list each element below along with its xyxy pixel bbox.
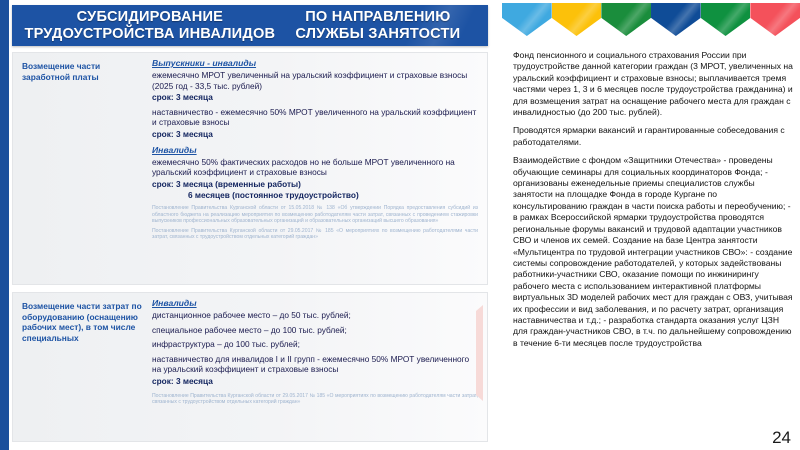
row-content-equipment: Инвалиды дистанционное рабочее место – д… [152,298,478,409]
left-edge-accent-band [0,0,9,450]
chevron-decoration-strip [502,3,800,36]
paragraph-remote-workplace: дистанционное рабочее место – до 50 тыс.… [152,310,478,321]
title-line-2: ПО НАПРАВЛЕНИЮ СЛУЖБЫ ЗАНЯТОСТИ [278,9,478,43]
left-panel: СУБСИДИРОВАНИЕ ТРУДОУСТРОЙСТВА ИНВАЛИДОВ… [0,0,502,450]
row-label-equipment: Возмещение части затрат по оборудованию … [22,301,146,343]
pink-accent-stripe [476,305,483,401]
right-paragraph-job-fairs: Проводятся ярмарки вакансий и гарантиров… [513,125,793,148]
subheading-disabled-equipment: Инвалиды [152,298,478,309]
legal-note-185-b: Постановление Правительства Курганской о… [152,393,478,406]
slide-title-banner: СУБСИДИРОВАНИЕ ТРУДОУСТРОЙСТВА ИНВАЛИДОВ… [12,5,488,46]
chevron-2-yellow [552,3,602,36]
paragraph-disabled-monthly: ежемесячно 50% фактических расходов но н… [152,157,478,178]
paragraph-graduates-term: срок: 3 месяца [152,92,478,103]
chevron-3-green [601,3,651,36]
chevron-4-blue-dark [651,3,701,36]
paragraph-graduates-monthly: ежемесячно МРОТ увеличенный на уральский… [152,70,478,91]
chevron-1-blue-light [502,3,552,36]
chevron-6-red [750,3,800,36]
subheading-disabled: Инвалиды [152,145,478,156]
content-row-equipment: Возмещение части затрат по оборудованию … [12,292,488,442]
paragraph-infrastructure: инфраструктура – до 100 тыс. рублей; [152,339,478,350]
legal-note-138: Постановление Правительства Курганской о… [152,205,478,225]
page-title: СУБСИДИРОВАНИЕ ТРУДОУСТРОЙСТВА ИНВАЛИДОВ… [12,5,488,46]
paragraph-special-workplace: специальное рабочее место – до 100 тыс. … [152,325,478,336]
paragraph-mentorship-term: срок: 3 месяца [152,129,478,140]
subheading-graduates: Выпускники - инвалиды [152,58,478,69]
chevron-5-green [701,3,751,36]
title-line-1: СУБСИДИРОВАНИЕ ТРУДОУСТРОЙСТВА ИНВАЛИДОВ [22,9,278,43]
row-label-salary: Возмещение части заработной платы [22,61,142,82]
right-panel: Фонд пенсионного и социального страхован… [502,0,800,450]
paragraph-mentorship-groups: наставничество для инвалидов I и II груп… [152,354,478,375]
paragraph-equipment-term: срок: 3 месяца [152,376,478,387]
content-row-salary: Возмещение части заработной платы Выпуск… [12,52,488,285]
paragraph-disabled-term-perm: 6 месяцев (постоянное трудоустройство) [152,190,478,201]
paragraph-disabled-term-temp: срок: 3 месяца (временные работы) [152,179,478,190]
page-number: 24 [772,429,791,447]
slide-canvas: СУБСИДИРОВАНИЕ ТРУДОУСТРОЙСТВА ИНВАЛИДОВ… [0,0,800,450]
row-content-salary: Выпускники - инвалиды ежемесячно МРОТ ув… [152,58,478,244]
right-paragraph-defenders-fund: Взаимодействие с фондом «Защитники Отече… [513,155,793,349]
legal-note-185-a: Постановление Правительства Курганской о… [152,228,478,241]
paragraph-mentorship-monthly: наставничество - ежемесячно 50% МРОТ уве… [152,107,478,128]
right-paragraph-fund: Фонд пенсионного и социального страхован… [513,50,793,118]
right-panel-body: Фонд пенсионного и социального страхован… [513,50,793,356]
